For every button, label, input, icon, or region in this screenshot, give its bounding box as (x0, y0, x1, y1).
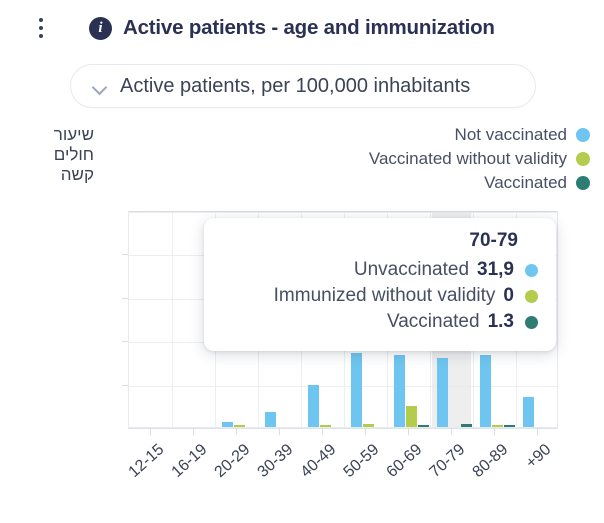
bar[interactable] (394, 355, 405, 427)
x-axis-tick-label: 70-79 (426, 441, 468, 482)
chart-tooltip: 70-79 Unvaccinated31,9Immunized without … (204, 218, 556, 351)
y-axis-title-line: שיעור (22, 125, 94, 145)
tooltip-series-value: 31,9 (477, 259, 514, 281)
x-axis-tick-label: 40-49 (297, 441, 339, 482)
x-axis-tick-label: 30-39 (254, 441, 296, 482)
x-axis-tick (408, 428, 409, 435)
bar[interactable] (234, 425, 245, 428)
legend-color-dot (576, 128, 590, 142)
x-axis-tick (365, 428, 366, 435)
bar[interactable] (418, 425, 429, 428)
info-icon[interactable]: i (89, 17, 112, 40)
tooltip-series-value: 1.3 (488, 311, 514, 333)
x-axis-tick (451, 428, 452, 435)
x-axis-tick (193, 428, 194, 435)
x-axis-tick-label: 50-59 (340, 441, 382, 482)
chart-header: i Active patients - age and immunization (0, 0, 604, 56)
y-axis-title-line: קשה (22, 165, 94, 185)
tooltip-series-name: Vaccinated (387, 311, 480, 333)
bar[interactable] (222, 422, 233, 427)
bar[interactable] (437, 358, 448, 427)
chart-legend: Not vaccinatedVaccinated without validit… (369, 125, 590, 193)
bar[interactable] (492, 425, 503, 428)
kebab-menu-icon[interactable] (28, 13, 54, 43)
legend-color-dot (576, 152, 590, 166)
y-axis-title-line: חולים (22, 145, 94, 165)
chevron-down-icon (93, 80, 106, 93)
x-axis-tick (279, 428, 280, 435)
metric-selector-label: Active patients, per 100,000 inhabitants (120, 75, 470, 98)
gridline-horizontal (129, 386, 557, 387)
kebab-dot (39, 34, 43, 38)
bar[interactable] (308, 385, 319, 427)
x-axis-tick-label: 12-15 (125, 441, 167, 482)
tooltip-series-name: Unvaccinated (354, 259, 469, 281)
x-axis-tick (322, 428, 323, 435)
gridline-vertical (172, 212, 173, 427)
x-axis-tick (494, 428, 495, 435)
tooltip-color-dot (525, 264, 538, 277)
x-axis-tick (150, 428, 151, 435)
gridline-horizontal (129, 212, 557, 213)
bar[interactable] (265, 412, 276, 427)
legend-item[interactable]: Vaccinated without validity (369, 149, 590, 169)
tooltip-series-value: 0 (503, 285, 514, 307)
x-axis-tick-label: 20-29 (211, 441, 253, 482)
bar[interactable] (363, 424, 374, 427)
tooltip-color-dot (525, 290, 538, 303)
legend-item-label: Vaccinated (484, 173, 567, 193)
bar[interactable] (504, 425, 515, 428)
x-axis-tick (236, 428, 237, 435)
tooltip-color-dot (525, 316, 538, 329)
title-group: i Active patients - age and immunization (89, 16, 495, 40)
bar[interactable] (461, 424, 472, 427)
x-axis-tick-label: +90 (522, 441, 554, 473)
tooltip-category: 70-79 (222, 230, 538, 252)
bar[interactable] (523, 397, 534, 427)
y-axis-title: שיעורחוליםקשה (22, 125, 94, 185)
x-axis-tick-label: 16-19 (168, 441, 210, 482)
tooltip-row: Unvaccinated31,9 (222, 259, 538, 281)
page-title: Active patients - age and immunization (123, 16, 495, 40)
legend-color-dot (576, 176, 590, 190)
tooltip-series-name: Immunized without validity (274, 285, 496, 307)
x-axis-tick (537, 428, 538, 435)
x-axis-tick-label: 80-89 (469, 441, 511, 482)
bar[interactable] (320, 425, 331, 428)
legend-item[interactable]: Vaccinated (484, 173, 590, 193)
bar[interactable] (351, 353, 362, 427)
bar[interactable] (406, 406, 417, 427)
legend-item[interactable]: Not vaccinated (455, 125, 590, 145)
tooltip-row: Vaccinated1.3 (222, 311, 538, 333)
kebab-dot (39, 26, 43, 30)
tooltip-row: Immunized without validity0 (222, 285, 538, 307)
bar[interactable] (480, 355, 491, 427)
legend-item-label: Not vaccinated (455, 125, 567, 145)
x-axis-tick-label: 60-69 (383, 441, 425, 482)
metric-selector-dropdown[interactable]: Active patients, per 100,000 inhabitants (70, 64, 536, 108)
kebab-dot (39, 18, 43, 22)
legend-item-label: Vaccinated without validity (369, 149, 567, 169)
tooltip-rows: Unvaccinated31,9Immunized without validi… (222, 259, 538, 333)
